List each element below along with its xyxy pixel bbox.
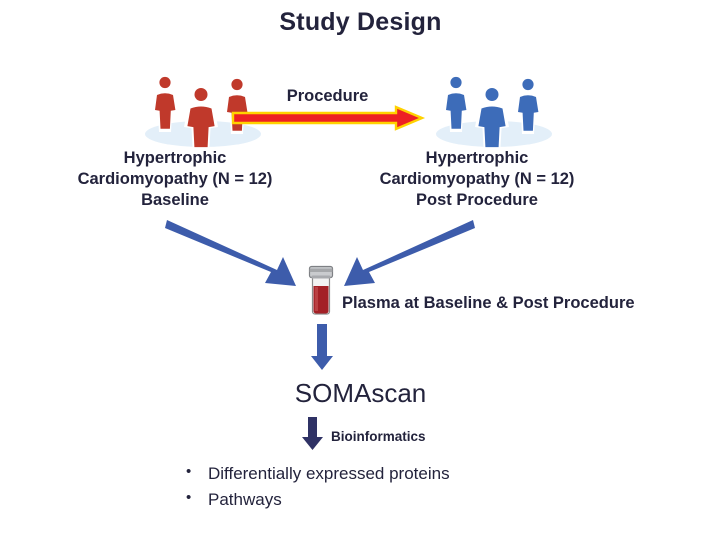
blood-tube-icon (305, 264, 337, 323)
cohort-label-line: Cardiomyopathy (N = 12) (327, 169, 627, 190)
right-arrow-icon-procedure (230, 104, 426, 137)
study-design-slide: Study Design (0, 0, 721, 542)
list-item: • Pathways (186, 487, 606, 513)
cohort-label-line: Cardiomyopathy (N = 12) (25, 169, 325, 190)
bioinformatics-label: Bioinformatics (331, 429, 426, 444)
page-title: Study Design (0, 8, 721, 37)
down-arrow-icon-to-somascan (308, 324, 336, 377)
bullet-icon: • (186, 461, 208, 484)
cohort-label-line: Hypertrophic (25, 148, 325, 169)
cohort-label-post-procedure: Hypertrophic Cardiomyopathy (N = 12) Pos… (327, 148, 627, 210)
outcomes-list: • Differentially expressed proteins • Pa… (186, 461, 606, 512)
list-item: • Differentially expressed proteins (186, 461, 606, 487)
cohort-label-line: Baseline (25, 190, 325, 211)
somascan-label: SOMAscan (0, 378, 721, 409)
cohort-label-baseline: Hypertrophic Cardiomyopathy (N = 12) Bas… (25, 148, 325, 210)
down-arrow-icon-bioinformatics (300, 417, 326, 456)
people-group-icon-post-procedure (424, 70, 564, 150)
diagonal-arrow-icon-right (335, 218, 475, 295)
diagonal-arrow-icon-left (165, 218, 305, 295)
list-item-label: Pathways (208, 487, 282, 513)
list-item-label: Differentially expressed proteins (208, 461, 450, 487)
bullet-icon: • (186, 487, 208, 510)
plasma-sample-label: Plasma at Baseline & Post Procedure (342, 294, 635, 313)
cohort-label-line: Post Procedure (327, 190, 627, 211)
cohort-label-line: Hypertrophic (327, 148, 627, 169)
